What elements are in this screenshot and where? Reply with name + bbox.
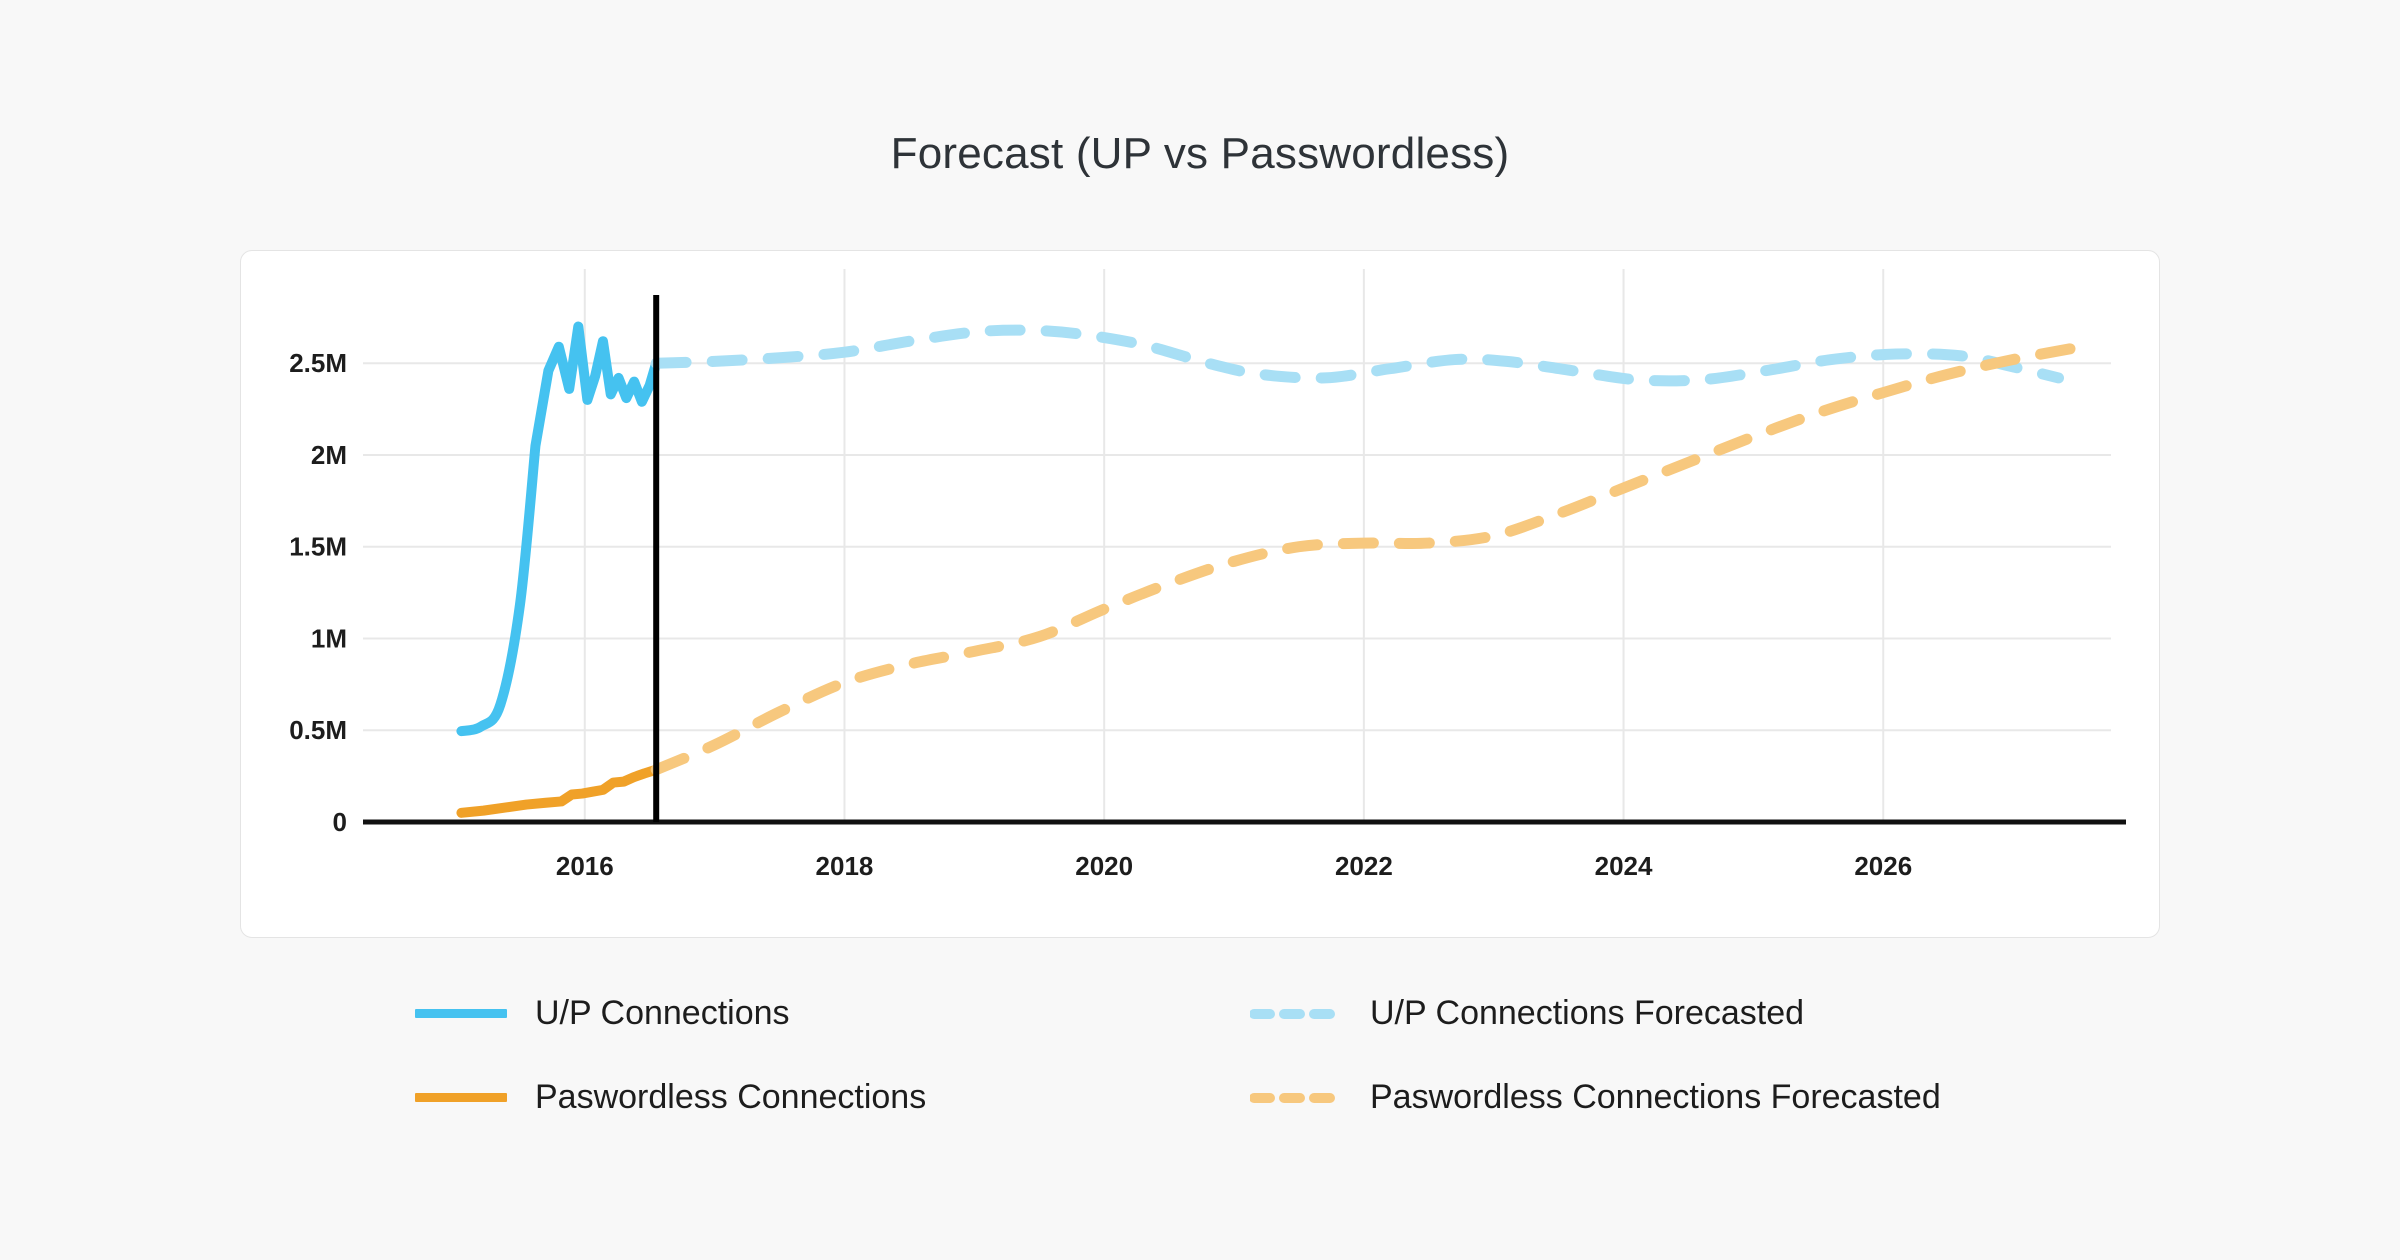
- legend-item-up-connections[interactable]: U/P Connections: [415, 985, 790, 1041]
- gridlines-horizontal: [363, 363, 2111, 730]
- x-axis-tick-labels: 201620182020202220242026: [556, 851, 1912, 881]
- gridlines-vertical: [585, 269, 1883, 822]
- chart-card: 00.5M1M1.5M2M2.5M 2016201820202022202420…: [240, 250, 2160, 938]
- series-line-2: [461, 770, 656, 813]
- page-root: Forecast (UP vs Passwordless) 00.5M1M1.5…: [0, 0, 2400, 1260]
- series-line-3: [656, 330, 2058, 381]
- series-paths: [461, 327, 2071, 813]
- x-axis-tick-label: 2026: [1854, 851, 1912, 881]
- x-axis-tick-label: 2018: [816, 851, 874, 881]
- series-line-1: [461, 327, 656, 732]
- legend-swatch-dashed-blue: [1250, 1009, 1342, 1018]
- y-axis-tick-labels: 00.5M1M1.5M2M2.5M: [289, 348, 347, 837]
- legend-swatch-solid-orange: [415, 1093, 507, 1102]
- y-axis-tick-label: 1.5M: [289, 532, 347, 562]
- chart-legend: U/P Connections U/P Connections Forecast…: [240, 985, 2160, 1145]
- x-axis-tick-label: 2020: [1075, 851, 1133, 881]
- legend-item-paswordless-connections-forecasted[interactable]: Paswordless Connections Forecasted: [1250, 1069, 1941, 1125]
- legend-swatch-solid-blue: [415, 1009, 507, 1018]
- y-axis-tick-label: 1M: [311, 623, 347, 653]
- y-axis-tick-label: 2.5M: [289, 348, 347, 378]
- page-title: Forecast (UP vs Passwordless): [0, 128, 2400, 181]
- legend-item-paswordless-connections[interactable]: Paswordless Connections: [415, 1069, 926, 1125]
- legend-label: U/P Connections Forecasted: [1370, 996, 1804, 1030]
- legend-label: U/P Connections: [535, 996, 790, 1030]
- y-axis-tick-label: 0: [333, 807, 347, 837]
- legend-label: Paswordless Connections Forecasted: [1370, 1080, 1941, 1114]
- x-axis-tick-label: 2024: [1595, 851, 1653, 881]
- legend-label: Paswordless Connections: [535, 1080, 926, 1114]
- line-chart: 00.5M1M1.5M2M2.5M 2016201820202022202420…: [241, 251, 2161, 939]
- y-axis-tick-label: 0.5M: [289, 715, 347, 745]
- x-axis-tick-label: 2016: [556, 851, 614, 881]
- legend-item-up-connections-forecasted[interactable]: U/P Connections Forecasted: [1250, 985, 1804, 1041]
- x-axis-tick-label: 2022: [1335, 851, 1393, 881]
- y-axis-tick-label: 2M: [311, 440, 347, 470]
- legend-swatch-dashed-orange: [1250, 1093, 1342, 1102]
